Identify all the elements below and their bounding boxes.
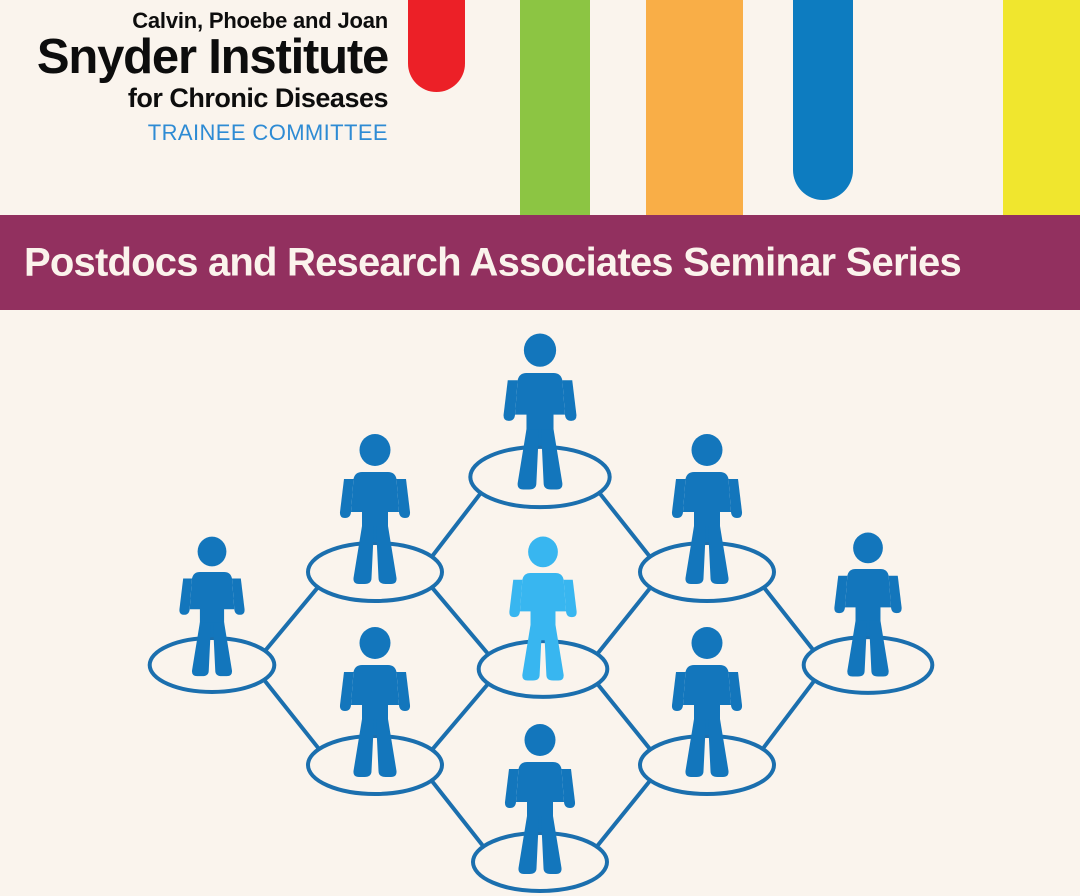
network-edge (596, 586, 651, 655)
person-arm-left (179, 579, 192, 615)
network-node-layer (150, 333, 933, 891)
node-ring-front (308, 572, 442, 601)
person-leg-right (544, 625, 564, 681)
bar-red (408, 0, 465, 92)
person-leg-left (685, 526, 706, 584)
person-torso (683, 472, 731, 542)
person-leg-left (353, 719, 374, 777)
person-arm-left (340, 479, 354, 518)
network-edge (431, 491, 482, 558)
person-upper-left (308, 434, 442, 601)
person-arm-right (564, 580, 577, 617)
person-torso (516, 762, 564, 832)
node-ring-front (804, 665, 933, 693)
person-arm-left (340, 672, 354, 711)
node-ring-front (473, 862, 607, 891)
node-ring-front (470, 477, 609, 507)
people-network-svg (0, 310, 1080, 896)
node-ring-front (640, 765, 774, 794)
person-far-right (804, 533, 933, 693)
person-arm-right (562, 380, 576, 421)
logo-institute-subject: for Chronic Diseases (0, 85, 388, 112)
person-arm-left (504, 380, 518, 421)
person-head (360, 434, 391, 466)
person-lower-left (308, 627, 442, 794)
person-center (479, 537, 608, 697)
person-torso (845, 569, 891, 636)
seminar-banner: Postdocs and Research Associates Seminar… (0, 215, 1080, 310)
person-figure (834, 533, 901, 677)
person-leg-left (353, 526, 374, 584)
person-arm-left (672, 672, 686, 711)
node-ring-back (150, 638, 275, 665)
network-edge (763, 586, 815, 652)
snyder-institute-logo: Calvin, Phoebe and Joan Snyder Institute… (0, 0, 400, 160)
logo-institute-name: Snyder Institute (0, 33, 388, 83)
person-arm-left (834, 576, 847, 613)
node-ring-back (479, 641, 608, 669)
person-figure (340, 434, 410, 584)
node-ring-back (470, 447, 609, 477)
person-arm-right (397, 672, 411, 711)
node-ring-back (640, 543, 774, 572)
person-figure (179, 537, 244, 677)
person-leg-left (192, 622, 211, 676)
person-head (525, 724, 556, 756)
bar-blue (793, 0, 853, 200)
person-torso (190, 572, 235, 637)
person-leg-right (708, 526, 729, 584)
person-torso (351, 665, 399, 735)
person-leg-right (376, 526, 397, 584)
person-arm-right (562, 769, 576, 808)
node-ring-back (308, 543, 442, 572)
person-arm-right (889, 576, 902, 613)
person-arm-left (505, 769, 519, 808)
person-upper-right (640, 434, 774, 601)
person-leg-right (708, 719, 729, 777)
person-figure (504, 333, 577, 489)
logo-donor-names: Calvin, Phoebe and Joan (0, 10, 388, 32)
node-ring-front (479, 669, 608, 697)
bar-orange (646, 0, 743, 215)
poster-root: Calvin, Phoebe and Joan Snyder Institute… (0, 0, 1080, 896)
page-title: Postdocs and Research Associates Seminar… (24, 240, 961, 285)
node-ring-front (640, 572, 774, 601)
person-figure (505, 724, 575, 874)
person-figure (340, 627, 410, 777)
node-ring-front (308, 765, 442, 794)
person-head (853, 533, 883, 564)
person-leg-right (213, 622, 232, 676)
bar-yellow (1003, 0, 1080, 215)
network-edge (762, 679, 816, 750)
person-leg-left (518, 429, 539, 489)
person-lower-right (640, 627, 774, 794)
header-zone: Calvin, Phoebe and Joan Snyder Institute… (0, 0, 1080, 215)
person-figure-highlight (509, 537, 576, 681)
network-edge (596, 779, 652, 848)
person-head (528, 537, 558, 568)
person-head (692, 627, 723, 659)
person-leg-right (541, 429, 562, 489)
person-leg-left (685, 719, 706, 777)
node-ring-back (308, 736, 442, 765)
person-leg-right (376, 719, 397, 777)
person-torso (351, 472, 399, 542)
person-arm-right (729, 479, 743, 518)
person-torso (683, 665, 731, 735)
person-figure (672, 434, 742, 584)
person-head (524, 333, 556, 366)
network-illustration (0, 310, 1080, 896)
person-arm-left (509, 580, 522, 617)
network-edge (430, 779, 484, 848)
person-leg-left (847, 621, 867, 677)
person-arm-right (729, 672, 743, 711)
person-figure (672, 627, 742, 777)
person-head (692, 434, 723, 466)
bar-green (520, 0, 590, 215)
person-leg-right (541, 816, 562, 874)
person-leg-right (869, 621, 889, 677)
person-arm-left (672, 479, 686, 518)
node-ring-back (804, 637, 933, 665)
network-edge (596, 683, 651, 751)
logo-trainee-committee-label: TRAINEE COMMITTEE (0, 122, 388, 144)
person-bottom-center (473, 724, 607, 891)
person-leg-left (522, 625, 542, 681)
person-head (198, 537, 227, 567)
person-top-center (470, 333, 609, 507)
person-torso (515, 373, 565, 446)
node-ring-back (473, 833, 607, 862)
person-head (360, 627, 391, 659)
node-ring-front (150, 665, 275, 692)
person-arm-right (397, 479, 411, 518)
person-far-left (150, 537, 275, 692)
person-arm-right (232, 579, 245, 615)
network-edge (431, 682, 490, 751)
network-edge (431, 586, 490, 656)
person-leg-left (518, 816, 539, 874)
network-edge (264, 586, 319, 652)
node-ring-back (640, 736, 774, 765)
network-edge (263, 679, 320, 751)
network-edge (598, 491, 651, 558)
person-torso (520, 573, 566, 640)
